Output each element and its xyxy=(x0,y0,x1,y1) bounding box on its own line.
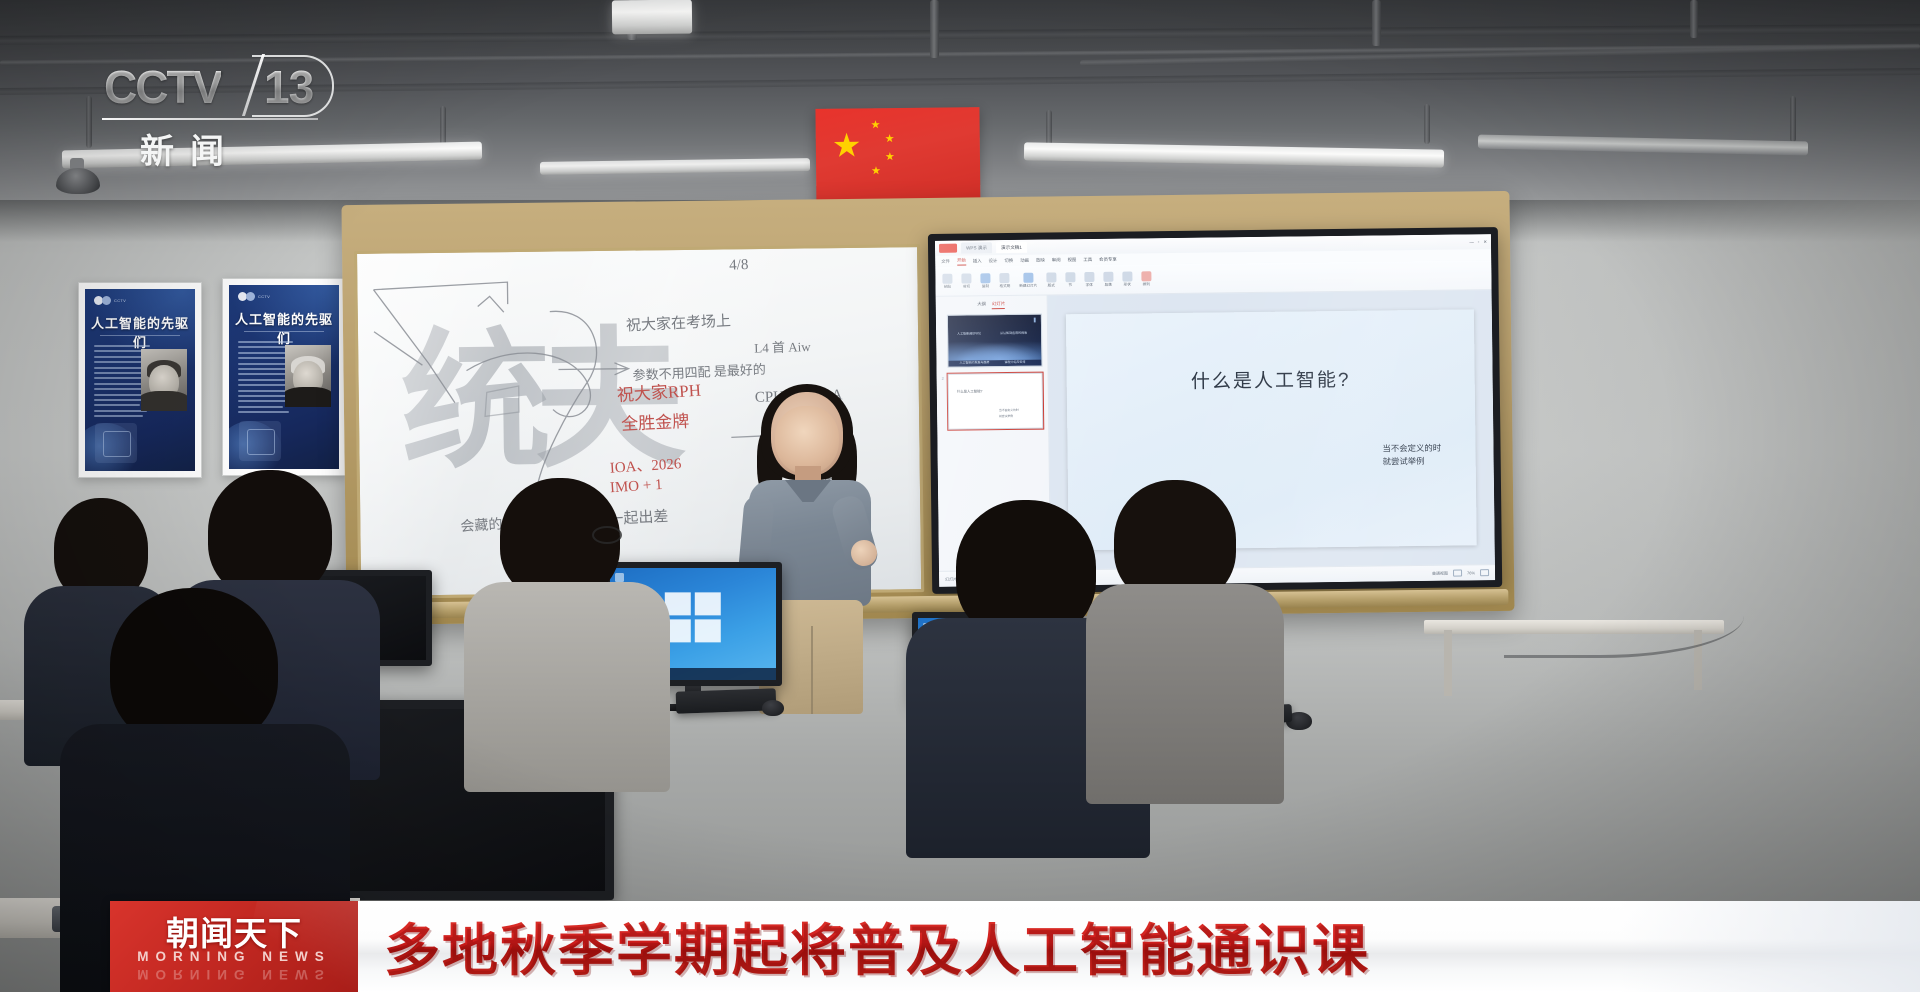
logo-underline xyxy=(102,118,318,120)
ribbon-label: 排列 xyxy=(1143,282,1150,287)
poster-figure-diagram xyxy=(239,421,281,461)
ribbon-button-paragraph[interactable]: 段落 xyxy=(1103,271,1113,287)
ribbon-button-copy[interactable]: 复制 xyxy=(980,273,990,289)
font-icon xyxy=(1084,271,1094,281)
status-zoom-level: 76% xyxy=(1467,570,1475,575)
ceiling-light xyxy=(612,0,692,34)
ribbon-button-paste[interactable]: 粘贴 xyxy=(942,273,952,289)
program-name-cn: 朝闻天下 xyxy=(110,907,358,955)
student-body xyxy=(1086,584,1284,804)
ribbon-button-new-slide[interactable]: 新建幻灯片 xyxy=(1019,272,1037,288)
slide-1-item: 从认知到应用的探索 xyxy=(1000,331,1027,335)
ceiling-hanger xyxy=(1046,110,1052,146)
network-name: CCTV xyxy=(104,60,221,114)
channel-logo: CCTV 13 新闻 xyxy=(104,58,334,170)
poster-brand: CCTV xyxy=(94,296,126,305)
slide-1-item: 课程介绍与安排 xyxy=(1004,360,1025,364)
cut-icon xyxy=(961,273,971,283)
ribbon-button-arrange[interactable]: 排列 xyxy=(1141,271,1151,287)
copy-icon xyxy=(980,273,990,283)
section-icon xyxy=(1065,272,1075,282)
paragraph-icon xyxy=(1103,271,1113,281)
wall-right-shade xyxy=(1500,200,1920,760)
side-table-leg xyxy=(1444,630,1452,696)
arrange-icon xyxy=(1141,271,1151,281)
ribbon-tab-animation[interactable]: 动画 xyxy=(1020,257,1029,263)
format-painter-icon xyxy=(1000,272,1010,282)
layout-icon xyxy=(1046,272,1056,282)
ribbon-tab-transition[interactable]: 切换 xyxy=(1004,257,1013,263)
slide-title: 什么是人工智能? xyxy=(1066,364,1475,396)
student xyxy=(1092,480,1272,780)
program-name-en-reflection: MORNING NEWS xyxy=(110,967,358,982)
headline-bar: 多地秋季学期起将普及人工智能通识课 xyxy=(358,901,1920,992)
ribbon-button-section[interactable]: 节 xyxy=(1065,272,1075,288)
ribbon-label: 形状 xyxy=(1124,282,1131,287)
ribbon-label: 剪切 xyxy=(963,284,970,289)
ribbon-label: 新建幻灯片 xyxy=(1019,283,1037,288)
ribbon-button-cut[interactable]: 剪切 xyxy=(961,273,971,289)
ribbon-label: 格式刷 xyxy=(999,283,1010,288)
program-name-en: MORNING NEWS xyxy=(110,949,358,964)
zoom-in-icon[interactable] xyxy=(1480,569,1489,576)
headline-text: 多地秋季学期起将普及人工智能通识课 xyxy=(384,906,1370,987)
poster-figure-diagram xyxy=(95,423,137,463)
slide-1-item: 人工智能通识导论 xyxy=(957,331,981,335)
student-head xyxy=(208,470,332,598)
new-slide-icon xyxy=(1023,272,1033,282)
slide-1-wave-graphic xyxy=(948,338,1041,361)
mouse[interactable] xyxy=(762,700,784,716)
slide-2-body: 当不会定义的时 xyxy=(999,408,1019,412)
slide-2-title: 什么是人工智能? xyxy=(957,388,983,393)
ceiling-hanger xyxy=(1424,104,1430,144)
window-maximize-icon[interactable]: ▫ xyxy=(1478,239,1480,244)
ribbon-label: 字体 xyxy=(1086,282,1093,287)
ribbon-tab-slideshow[interactable]: 放映 xyxy=(1036,257,1045,263)
window-close-icon[interactable]: ✕ xyxy=(1483,239,1487,245)
flag-star-small: ★ xyxy=(871,120,881,131)
ceiling-hanger xyxy=(86,96,92,148)
slide-1-item: 人工智能的发展与趋势 xyxy=(959,360,989,364)
security-camera-icon xyxy=(56,168,100,194)
poster-ai-pioneers-1: CCTV 人工智能的先驱们 xyxy=(78,282,202,478)
ceiling-pipe-vertical xyxy=(930,0,939,58)
poster-portrait-pioneer xyxy=(285,345,331,407)
lower-third: 朝闻天下 MORNING NEWS MORNING NEWS 多地秋季学期起将普… xyxy=(110,901,1920,992)
ribbon-button-shape[interactable]: 形状 xyxy=(1122,271,1132,287)
program-logo: 朝闻天下 MORNING NEWS MORNING NEWS xyxy=(110,901,358,992)
ribbon-tab-view[interactable]: 视图 xyxy=(1068,257,1077,263)
poster-brand-label: CCTV xyxy=(114,298,126,303)
ribbon-label: 节 xyxy=(1068,283,1072,288)
ribbon-tab-design[interactable]: 设计 xyxy=(989,258,998,264)
slide-body: 当不会定义的时 就尝试举例 xyxy=(1382,442,1441,469)
wps-tab-1[interactable]: 演示文稿1 xyxy=(996,242,1027,253)
teacher-face xyxy=(775,406,839,474)
student xyxy=(470,478,660,768)
outline-tab-slides[interactable]: 幻灯片 xyxy=(992,301,1005,309)
slide-1-badge: ⫼ xyxy=(1034,318,1036,324)
slide-thumbnail-1[interactable]: 1 人工智能通识导论 从认知到应用的探索 人工智能的发展与趋势 课程介绍与安排 … xyxy=(947,314,1043,368)
ribbon-tab-file[interactable]: 文件 xyxy=(941,258,950,264)
window-minimize-icon[interactable]: — xyxy=(1469,239,1473,244)
outline-tab-outline[interactable]: 大纲 xyxy=(977,301,986,309)
student-glasses-icon xyxy=(592,526,622,544)
slide-2-body: 就尝试举例 xyxy=(999,414,1013,418)
poster-portrait-turing xyxy=(141,349,187,411)
slide-body-line: 当不会定义的时 xyxy=(1382,442,1441,456)
poster-ai-pioneers-2: CCTV 人工智能的先驱们 xyxy=(222,278,346,476)
ribbon-tab-insert[interactable]: 插入 xyxy=(973,258,982,264)
ribbon-button-font[interactable]: 字体 xyxy=(1084,271,1094,287)
wps-logo-icon xyxy=(939,244,957,253)
ceiling-pipe-vertical xyxy=(1372,0,1381,46)
channel-number: 13 xyxy=(264,60,313,114)
flag-star-large: ★ xyxy=(832,128,862,161)
ribbon-tab-review[interactable]: 审阅 xyxy=(1052,257,1061,263)
shape-icon xyxy=(1122,271,1132,281)
ceiling-pipe-vertical xyxy=(1690,0,1698,38)
slide-body-line: 就尝试举例 xyxy=(1383,455,1442,469)
ribbon-tab-tools[interactable]: 工具 xyxy=(1083,256,1092,262)
ribbon-label: 段落 xyxy=(1105,282,1112,287)
zoom-out-icon[interactable] xyxy=(1453,569,1462,576)
flag-star-small: ★ xyxy=(871,166,881,177)
channel-name-cn: 新闻 xyxy=(140,124,240,173)
poster-brand: CCTV xyxy=(238,292,270,301)
slide-number: 2 xyxy=(942,376,944,381)
paste-icon xyxy=(942,273,952,283)
broadcast-frame: CCTV 人工智能的先驱们 xyxy=(0,0,1920,992)
status-view-label: 普通视图 xyxy=(1432,570,1448,576)
student-body xyxy=(464,582,670,792)
ribbon-label: 复制 xyxy=(982,284,989,289)
flag-star-small: ★ xyxy=(885,152,895,163)
poster-brand-label: CCTV xyxy=(258,294,270,299)
ribbon-button-format-painter[interactable]: 格式刷 xyxy=(999,272,1010,288)
ribbon-tab-member[interactable]: 会员专享 xyxy=(1099,256,1117,262)
windows-logo-icon xyxy=(665,593,721,642)
wps-tab-0[interactable]: WPS 演示 xyxy=(961,242,992,253)
ribbon-label: 版式 xyxy=(1048,283,1055,288)
ribbon-label: 粘贴 xyxy=(944,284,951,289)
slide-thumbnail-2[interactable]: 2 什么是人工智能? 当不会定义的时 就尝试举例 xyxy=(948,373,1044,430)
flag-star-small: ★ xyxy=(885,134,895,145)
ceiling-hanger xyxy=(1790,96,1796,142)
ribbon-button-layout[interactable]: 版式 xyxy=(1046,272,1056,288)
ribbon-tab-home[interactable]: 开始 xyxy=(957,257,966,265)
